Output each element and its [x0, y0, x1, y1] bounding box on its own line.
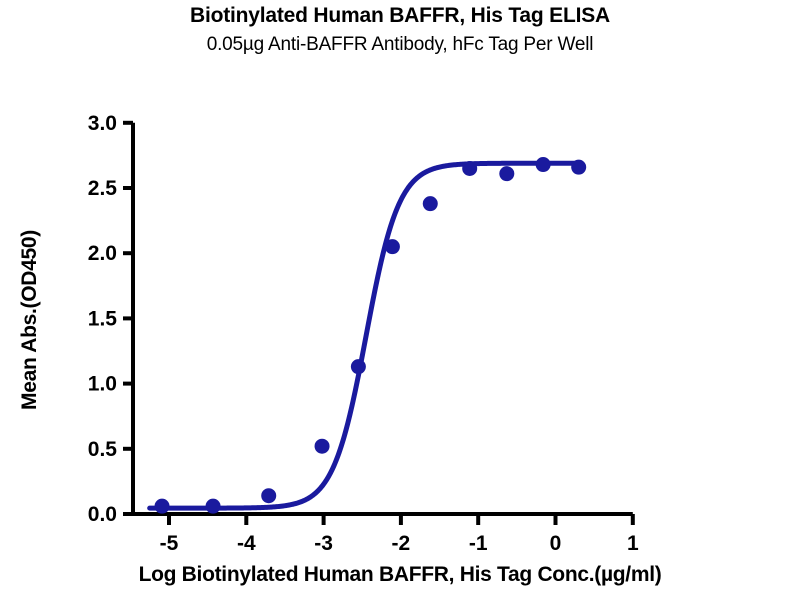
- data-point-marker: [385, 239, 400, 254]
- x-tick-label: -4: [237, 532, 256, 555]
- x-tick-label: -1: [469, 532, 488, 555]
- data-point-marker: [423, 196, 438, 211]
- data-point-marker: [499, 166, 514, 181]
- y-tick-label: 2.0: [88, 242, 117, 265]
- data-point-marker: [206, 499, 221, 514]
- fit-curve: [150, 163, 581, 508]
- x-tick-label: -3: [314, 532, 333, 555]
- x-tick-label: 1: [627, 532, 639, 555]
- data-point-marker: [536, 157, 551, 172]
- data-point-marker: [462, 161, 477, 176]
- y-axis-ticks: 0.00.51.01.52.02.53.0: [88, 112, 133, 526]
- data-point-marker: [315, 439, 330, 454]
- plot-area: 0.00.51.01.52.02.53.0 -5-4-3-2-101: [0, 0, 800, 600]
- y-tick-label: 0.5: [88, 438, 118, 461]
- data-point-marker: [155, 499, 170, 514]
- y-tick-label: 1.5: [88, 307, 118, 330]
- x-tick-label: -5: [160, 532, 179, 555]
- y-tick-label: 3.0: [88, 112, 117, 135]
- x-axis-ticks: -5-4-3-2-101: [160, 514, 639, 555]
- x-tick-label: 0: [550, 532, 562, 555]
- data-point-marker: [261, 488, 276, 503]
- y-tick-label: 2.5: [88, 177, 118, 200]
- y-tick-label: 0.0: [88, 503, 117, 526]
- elisa-chart-figure: Biotinylated Human BAFFR, His Tag ELISA …: [0, 0, 800, 600]
- data-point-marker: [571, 160, 586, 175]
- x-tick-label: -2: [392, 532, 411, 555]
- data-points: [155, 157, 587, 514]
- data-point-marker: [351, 359, 366, 374]
- axis-lines: [133, 123, 633, 514]
- y-tick-label: 1.0: [88, 373, 117, 396]
